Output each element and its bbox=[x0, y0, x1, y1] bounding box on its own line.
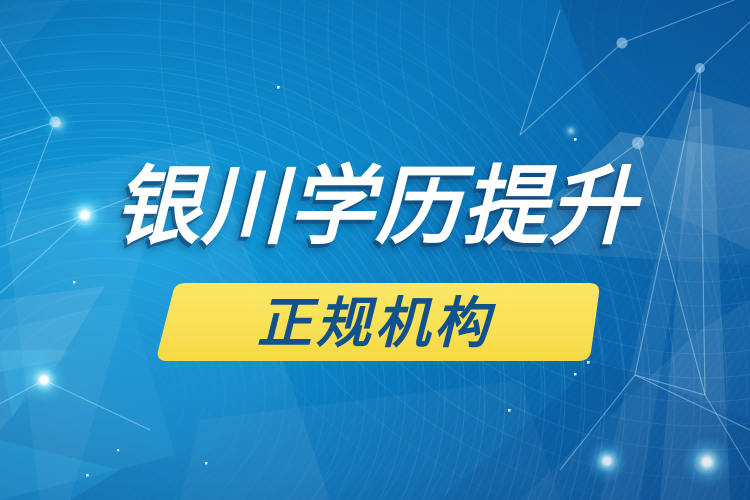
ribbon-label: 正规机构 bbox=[0, 291, 750, 355]
promo-banner: 银川学历提升 正规机构 bbox=[0, 0, 750, 500]
page-title: 银川学历提升 bbox=[0, 155, 750, 259]
